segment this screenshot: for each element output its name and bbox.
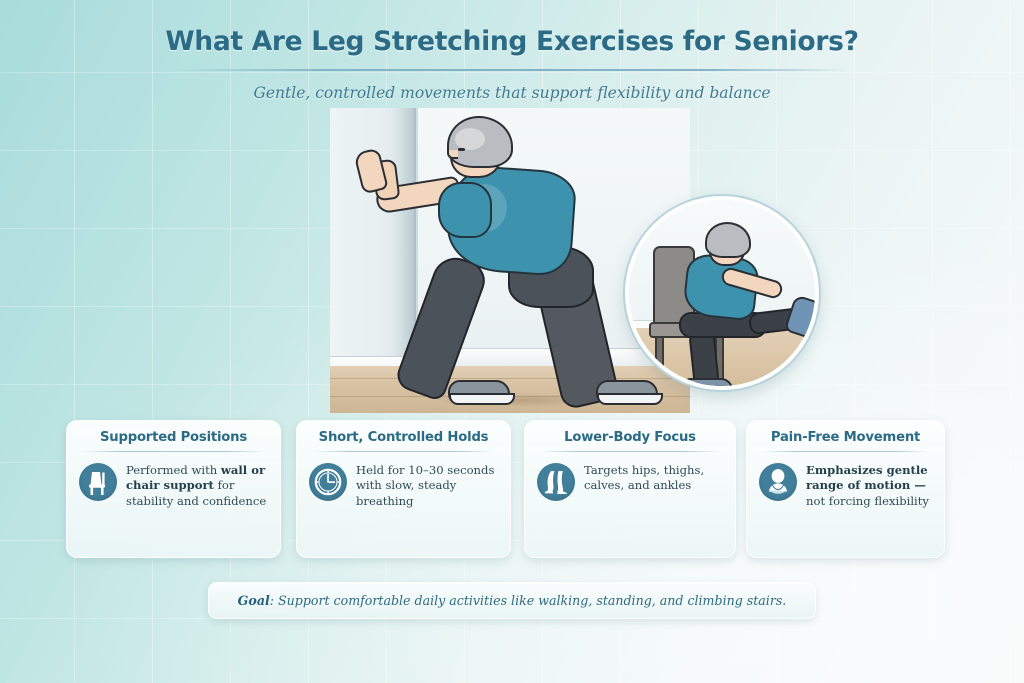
- goal-label: Goal: [238, 593, 270, 608]
- inset-illustration-seated-hamstring-stretch: [625, 196, 819, 390]
- eye: [458, 148, 465, 151]
- card-short-controlled-holds[interactable]: Short, Controlled Holds Held for 10–30 s…: [296, 420, 511, 558]
- goal-separator: :: [270, 593, 278, 608]
- card-supported-positions[interactable]: Supported Positions Performed with wall …: [66, 420, 281, 558]
- card-text-lead: Held for 10–30 seconds with slow, steady…: [356, 463, 494, 508]
- chair-icon: [79, 463, 117, 501]
- sleeve: [438, 182, 492, 238]
- goal-text: Goal: Support comfortable daily activiti…: [238, 593, 787, 608]
- page-subtitle: Gentle, controlled movements that suppor…: [0, 84, 1024, 102]
- card-text-lead: Performed with: [126, 463, 221, 477]
- card-lower-body-focus[interactable]: Lower-Body Focus Targets hips, thighs, c…: [524, 420, 736, 558]
- clock-icon: [309, 463, 347, 501]
- card-pain-free-movement[interactable]: Pain-Free Movement Emphasizes gentle ran…: [746, 420, 945, 558]
- card-text-tail: not forcing flexibility: [806, 494, 929, 508]
- title-divider: [175, 69, 851, 71]
- goal-banner: Goal: Support comfortable daily activiti…: [208, 582, 816, 619]
- chair-leg: [655, 336, 664, 386]
- front-shoe: [596, 380, 658, 404]
- card-title: Pain-Free Movement: [759, 430, 932, 445]
- card-divider: [83, 451, 264, 452]
- legs-icon: [537, 463, 575, 501]
- infographic-canvas: What Are Leg Stretching Exercises for Se…: [0, 0, 1024, 683]
- card-text: Held for 10–30 seconds with slow, steady…: [356, 463, 498, 509]
- page-title: What Are Leg Stretching Exercises for Se…: [0, 26, 1024, 57]
- card-divider: [541, 451, 719, 452]
- card-divider: [763, 451, 928, 452]
- seated-person-icon: [759, 463, 797, 501]
- inset-gray-hair: [705, 222, 751, 258]
- profile-nose: [447, 150, 458, 159]
- card-text: Targets hips, thighs, calves, and ankles: [584, 463, 723, 494]
- rear-shoe: [448, 380, 510, 404]
- card-text: Performed with wall or chair support for…: [126, 463, 268, 509]
- card-text-emphasis: Emphasizes gentle range of motion —: [806, 463, 928, 492]
- card-text: Emphasizes gentle range of motion — not …: [806, 463, 932, 509]
- card-text-lead: Targets hips, thighs, calves, and ankles: [584, 463, 704, 492]
- card-title: Lower-Body Focus: [537, 430, 723, 445]
- card-divider: [313, 451, 494, 452]
- goal-statement: Support comfortable daily activities lik…: [278, 593, 786, 608]
- card-title: Supported Positions: [79, 430, 268, 445]
- card-title: Short, Controlled Holds: [309, 430, 498, 445]
